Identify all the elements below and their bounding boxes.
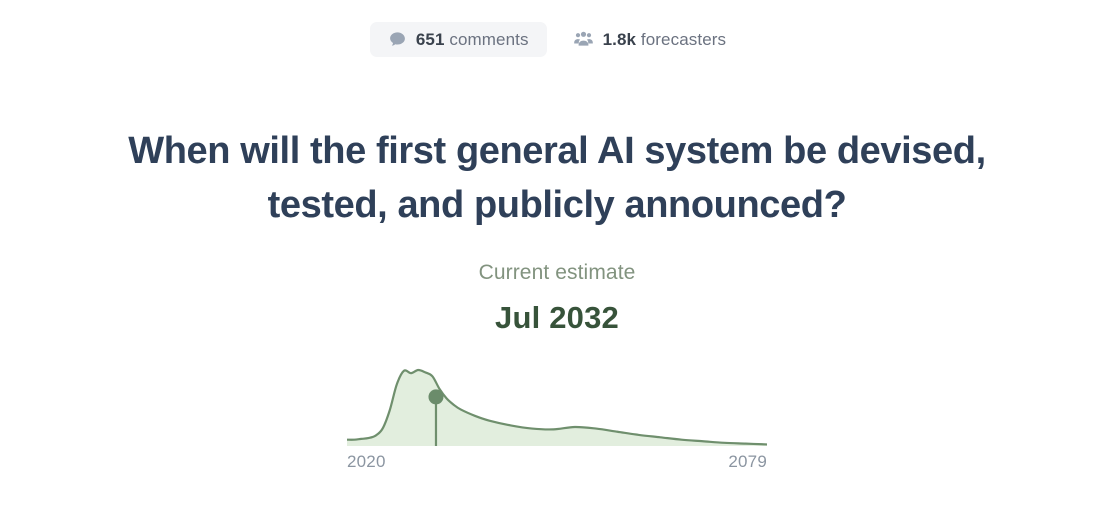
comment-bubble-icon bbox=[388, 30, 407, 49]
question-title: When will the first general AI system be… bbox=[0, 125, 1114, 233]
forecasters-stat[interactable]: 1.8k forecasters bbox=[555, 22, 745, 57]
forecasters-group-icon bbox=[573, 30, 594, 49]
forecasters-count: 1.8k bbox=[603, 30, 637, 49]
chart-inner: 2020 2079 bbox=[347, 360, 767, 480]
x-axis-label-start: 2020 bbox=[347, 452, 386, 472]
stats-row: 651 comments 1.8k forecasters bbox=[0, 22, 1114, 57]
question-title-line-2: tested, and publicly announced? bbox=[268, 184, 847, 226]
distribution-sparkline bbox=[347, 360, 767, 455]
current-estimate-value: Jul 2032 bbox=[0, 299, 1114, 336]
estimate-marker-dot bbox=[428, 389, 443, 404]
forecasters-stat-text: 1.8k forecasters bbox=[603, 31, 727, 48]
question-title-line-1: When will the first general AI system be… bbox=[128, 130, 985, 172]
current-estimate-block: Current estimate Jul 2032 bbox=[0, 260, 1114, 336]
comments-stat-text: 651 comments bbox=[416, 31, 529, 48]
chart-axis-labels: 2020 2079 bbox=[347, 452, 767, 472]
comments-label: comments bbox=[449, 30, 528, 49]
distribution-area-fill bbox=[347, 370, 767, 446]
comments-stat[interactable]: 651 comments bbox=[370, 22, 547, 57]
forecasters-label: forecasters bbox=[641, 30, 726, 49]
comments-count: 651 bbox=[416, 30, 445, 49]
current-estimate-label: Current estimate bbox=[0, 260, 1114, 285]
x-axis-label-end: 2079 bbox=[728, 452, 767, 472]
forecast-distribution-chart[interactable]: 2020 2079 bbox=[0, 360, 1114, 480]
